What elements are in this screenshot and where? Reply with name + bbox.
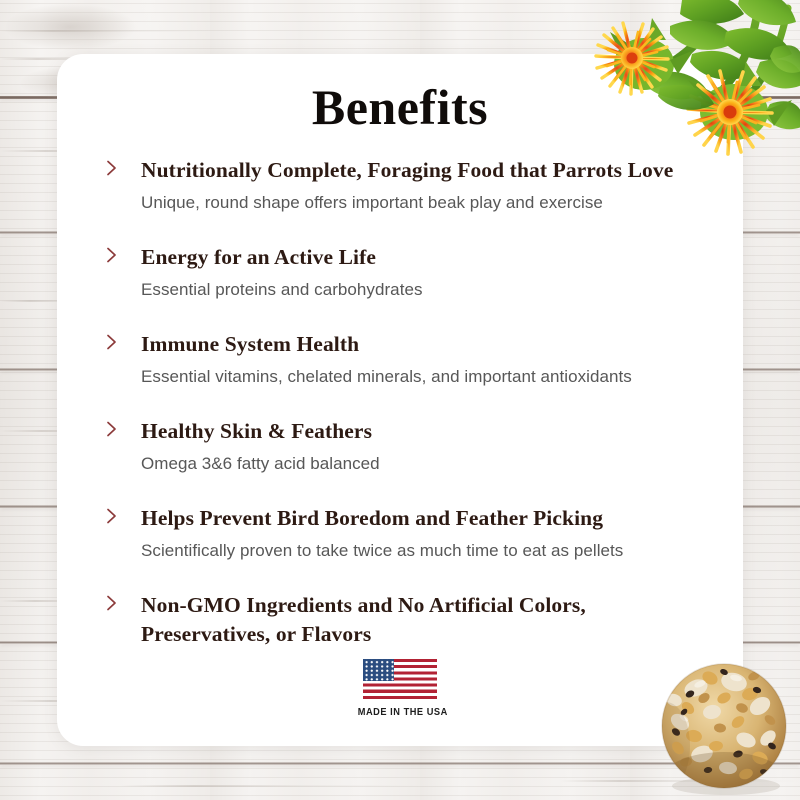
benefit-heading: Helps Prevent Bird Boredom and Feather P… [141,504,721,533]
chevron-right-icon [103,594,121,612]
flag-canton [363,659,394,681]
benefits-card: Benefits Nutritionally Complete, Foragin… [57,54,743,746]
wood-knot [5,4,135,50]
benefit-subtext: Unique, round shape offers important bea… [141,191,721,215]
wood-grain-streak [560,780,800,782]
benefit-item: Immune System Health Essential vitamins,… [97,330,721,389]
flag-stars [363,659,394,681]
made-in-usa-label: MADE IN THE USA [358,706,442,718]
chevron-right-icon [103,420,121,438]
benefit-item: Healthy Skin & Feathers Omega 3&6 fatty … [97,417,721,476]
benefit-subtext: Omega 3&6 fatty acid balanced [141,452,721,476]
wood-grain-streak [120,785,420,787]
chevron-right-icon [103,246,121,264]
usa-flag-icon [363,659,437,699]
benefit-item: Energy for an Active Life Essential prot… [97,243,721,302]
benefit-item: Helps Prevent Bird Boredom and Feather P… [97,504,721,563]
page-title: Benefits [57,78,743,136]
benefit-subtext: Scientifically proven to take twice as m… [141,539,721,563]
benefit-item: Non-GMO Ingredients and No Artificial Co… [97,591,721,649]
benefits-infographic: Benefits Nutritionally Complete, Foragin… [0,0,800,800]
benefit-heading: Non-GMO Ingredients and No Artificial Co… [141,591,621,649]
benefit-heading: Healthy Skin & Feathers [141,417,721,446]
benefit-heading: Energy for an Active Life [141,243,721,272]
benefit-subtext: Essential vitamins, chelated minerals, a… [141,365,721,389]
benefits-list: Nutritionally Complete, Foraging Food th… [97,156,721,649]
benefit-item: Nutritionally Complete, Foraging Food th… [97,156,721,215]
chevron-right-icon [103,333,121,351]
benefit-heading: Immune System Health [141,330,721,359]
chevron-right-icon [103,159,121,177]
chevron-right-icon [103,507,121,525]
plank-seam [0,762,800,765]
benefit-subtext: Essential proteins and carbohydrates [141,278,721,302]
benefit-heading: Nutritionally Complete, Foraging Food th… [141,156,721,185]
made-in-usa-badge: MADE IN THE USA [352,659,448,718]
